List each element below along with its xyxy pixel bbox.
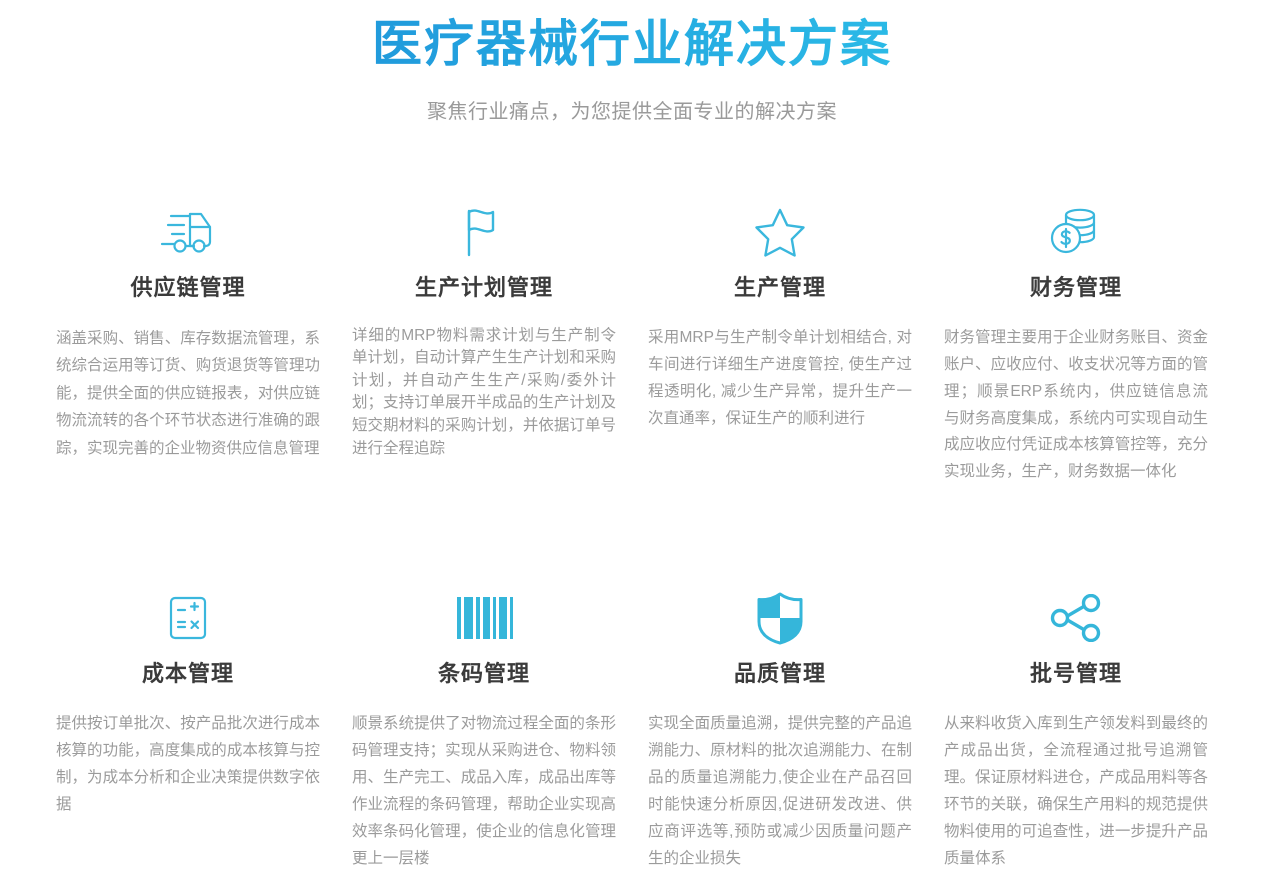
feature-card-lot-number[interactable]: 批号管理 从来料收货入库到生产领发料到最终的产成品出货，全流程通过批号追溯管理。… [928,558,1224,872]
page-subtitle: 聚焦行业痛点，为您提供全面专业的解决方案 [0,95,1264,124]
feature-card-production-plan[interactable]: 生产计划管理 详细的MRP物料需求计划与生产制令单计划，自动计算产生生产计划和采… [336,196,632,486]
page-header: 医疗器械行业解决方案 聚焦行业痛点，为您提供全面专业的解决方案 [0,0,1264,124]
feature-card-title: 品质管理 [646,660,914,689]
feature-card-title: 批号管理 [942,660,1210,689]
feature-card-description: 财务管理主要用于企业财务账目、资金账户、应收应付、收支状况等方面的管理；顺景ER… [942,325,1210,487]
feature-card-quality[interactable]: 品质管理 实现全面质量追溯，提供完整的产品追溯能力、原材料的批次追溯能力、在制品… [632,558,928,872]
feature-grid-row-2: 成本管理 提供按订单批次、按产品批次进行成本核算的功能，高度集成的成本核算与控制… [0,558,1264,872]
feature-card-production[interactable]: 生产管理 采用MRP与生产制令单计划相结合, 对车间进行详细生产进度管控, 使生… [632,196,928,486]
feature-card-cost[interactable]: 成本管理 提供按订单批次、按产品批次进行成本核算的功能，高度集成的成本核算与控制… [40,558,336,872]
feature-card-description: 详细的MRP物料需求计划与生产制令单计划，自动计算产生生产计划和采购计划，并自动… [350,325,618,461]
feature-card-barcode[interactable]: 条码管理 顺景系统提供了对物流过程全面的条形码管理支持；实现从采购进仓、物料领用… [336,558,632,872]
feature-card-title: 成本管理 [54,660,322,689]
feature-card-title: 供应链管理 [54,274,322,303]
page-title: 医疗器械行业解决方案 [0,14,1264,75]
calculator-icon [54,582,322,654]
feature-card-description: 从来料收货入库到生产领发料到最终的产成品出货，全流程通过批号追溯管理。保证原材料… [942,711,1210,873]
feature-card-title: 财务管理 [942,274,1210,303]
share-nodes-icon [942,582,1210,654]
shield-icon [646,582,914,654]
coins-dollar-icon [942,196,1210,268]
feature-grid-row-1: 供应链管理 涵盖采购、销售、库存数据流管理，系统综合运用等订货、购货退货等管理功… [0,196,1264,486]
truck-icon [54,196,322,268]
star-icon [646,196,914,268]
flag-icon [350,196,618,268]
feature-card-title: 条码管理 [350,660,618,689]
solution-page: 医疗器械行业解决方案 聚焦行业痛点，为您提供全面专业的解决方案 [0,0,1264,858]
barcode-icon [350,582,618,654]
feature-card-description: 顺景系统提供了对物流过程全面的条形码管理支持；实现从采购进仓、物料领用、生产完工… [350,711,618,873]
feature-card-title: 生产管理 [646,274,914,303]
feature-card-description: 采用MRP与生产制令单计划相结合, 对车间进行详细生产进度管控, 使生产过程透明… [646,325,914,433]
feature-card-description: 涵盖采购、销售、库存数据流管理，系统综合运用等订货、购货退货等管理功能，提供全面… [54,325,322,463]
feature-card-title: 生产计划管理 [350,274,618,303]
feature-card-supply-chain[interactable]: 供应链管理 涵盖采购、销售、库存数据流管理，系统综合运用等订货、购货退货等管理功… [40,196,336,486]
feature-card-description: 实现全面质量追溯，提供完整的产品追溯能力、原材料的批次追溯能力、在制品的质量追溯… [646,711,914,873]
feature-card-finance[interactable]: 财务管理 财务管理主要用于企业财务账目、资金账户、应收应付、收支状况等方面的管理… [928,196,1224,486]
feature-card-description: 提供按订单批次、按产品批次进行成本核算的功能，高度集成的成本核算与控制，为成本分… [54,711,322,819]
